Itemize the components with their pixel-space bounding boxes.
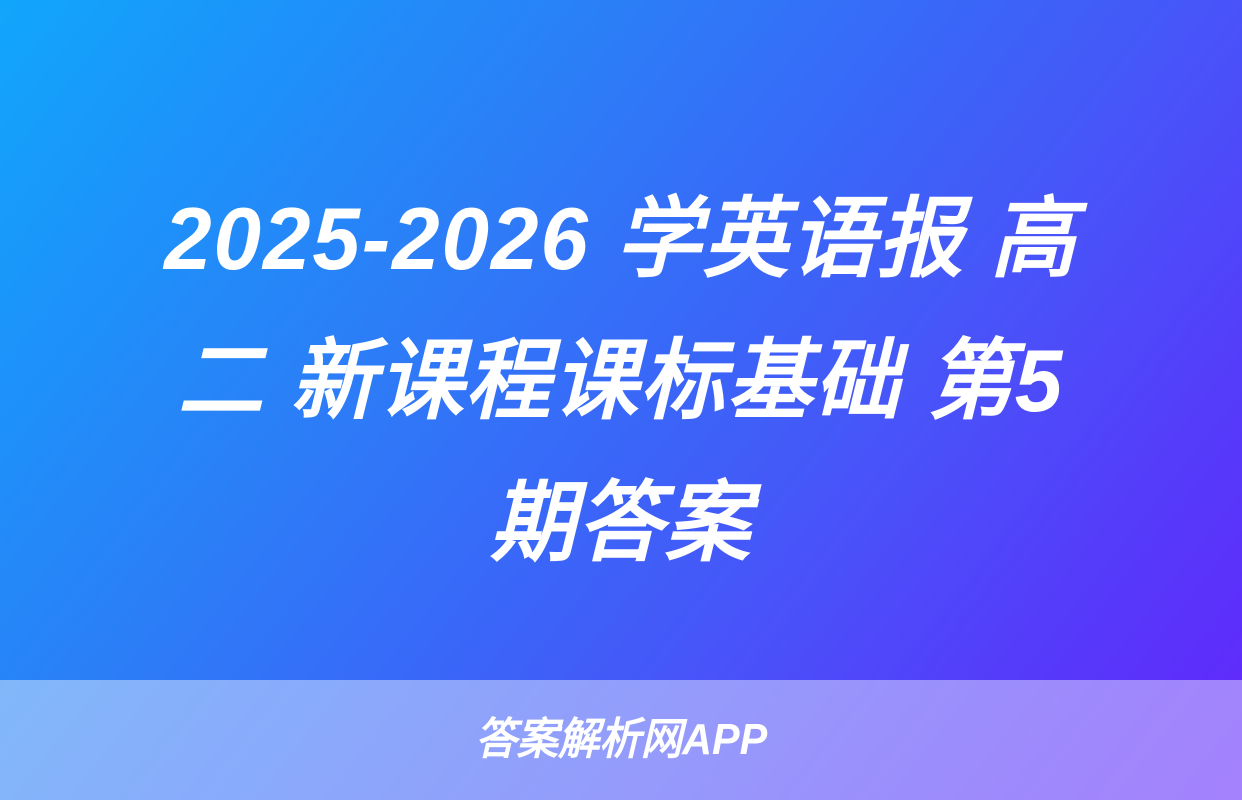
answer-card-canvas: 2025-2026 学英语报 高 二 新课程课标基础 第5 期答案 答案解析网A… [0, 0, 1242, 800]
title-line-3: 期答案 [490, 452, 752, 594]
watermark-band: 答案解析网APP [0, 680, 1242, 800]
watermark-text: 答案解析网APP [475, 718, 767, 762]
page-title: 2025-2026 学英语报 高 二 新课程课标基础 第5 期答案 [0, 168, 1242, 628]
title-line-2: 二 新课程课标基础 第5 [178, 310, 1064, 452]
title-line-1: 2025-2026 学英语报 高 [164, 168, 1077, 310]
